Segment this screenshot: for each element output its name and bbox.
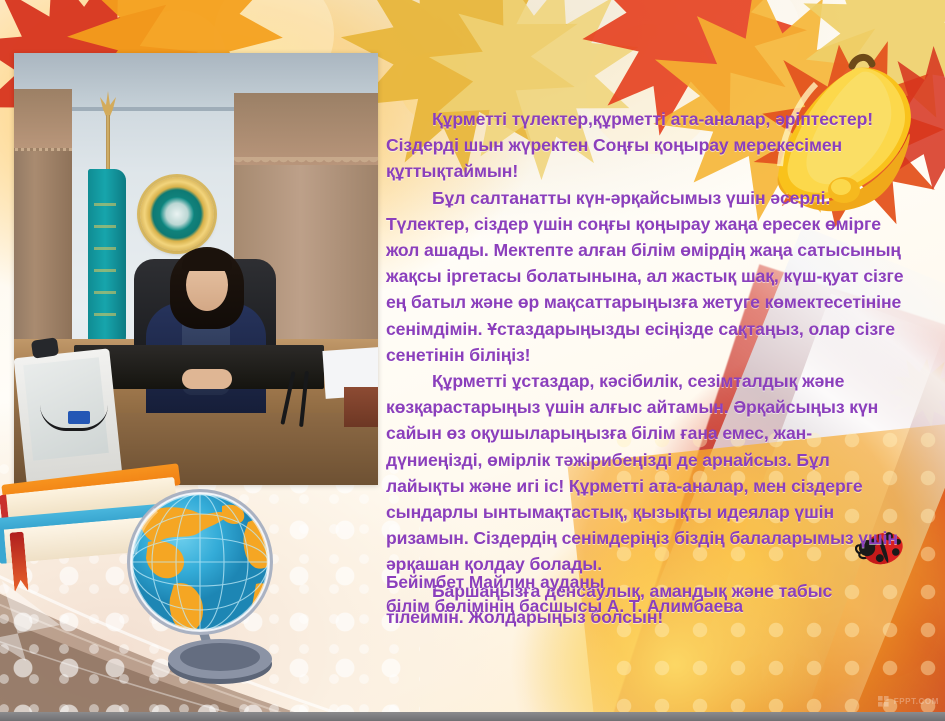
paragraph-greeting: Құрметті түлектер,құрметті ата-аналар, ә… bbox=[386, 106, 906, 185]
photo-pen-holder bbox=[344, 387, 378, 427]
paragraph-graduates: Бұл салтанатты күн-әрқайсымыз үшін әсерл… bbox=[386, 185, 906, 368]
portrait-photo bbox=[14, 53, 378, 485]
photo-pelmet-left bbox=[14, 89, 72, 151]
photo-usb-connector bbox=[68, 411, 90, 424]
photo-pelmet-right bbox=[234, 93, 378, 165]
signature-line-2: білім бөлімінің басшысы А. Т. Алимбаева bbox=[386, 594, 906, 618]
photo-flag-pattern bbox=[94, 203, 116, 323]
message-text-block: Құрметті түлектер,құрметті ата-аналар, ә… bbox=[386, 106, 906, 630]
globe-icon bbox=[104, 488, 308, 688]
watermark: FPPT.COM bbox=[878, 696, 939, 707]
bottom-strip bbox=[0, 712, 945, 721]
signature-block: Бейімбет Майлин ауданы білім бөлімінің б… bbox=[386, 570, 906, 618]
photo-pelmet-fringe bbox=[234, 157, 378, 169]
watermark-logo-icon bbox=[878, 696, 889, 707]
slide-canvas: Құрметті түлектер,құрметті ата-аналар, ә… bbox=[0, 0, 945, 721]
paragraph-teachers-parents: Құрметті ұстаздар, кәсібилік, сезімталды… bbox=[386, 368, 906, 578]
watermark-text: FPPT.COM bbox=[894, 697, 939, 706]
photo-person-hands bbox=[182, 369, 232, 389]
photo-person-fringe bbox=[182, 249, 232, 271]
signature-line-1: Бейімбет Майлин ауданы bbox=[386, 570, 906, 594]
photo-state-emblem-center bbox=[160, 197, 194, 231]
photo-webcam bbox=[31, 337, 59, 358]
